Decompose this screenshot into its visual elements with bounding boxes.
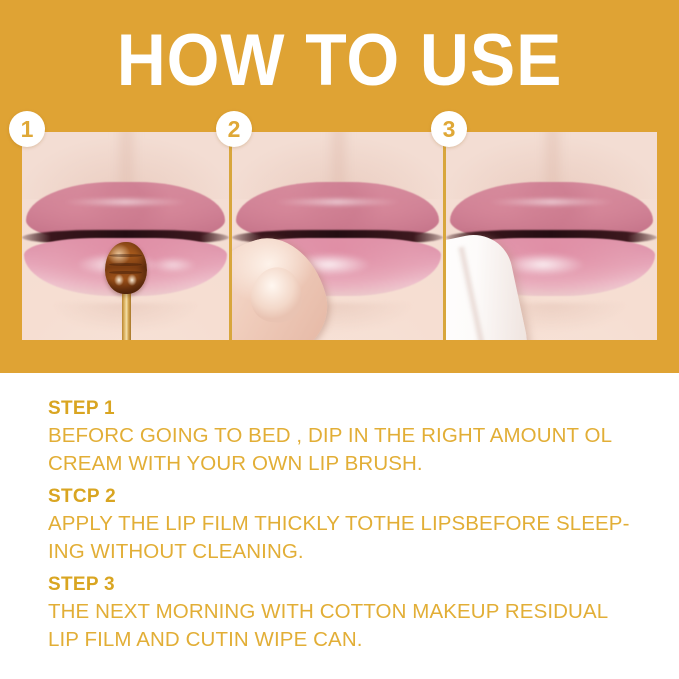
step-badge-3: 3 [431, 111, 467, 147]
upper-lip-gloss [487, 199, 617, 205]
upper-lip-gloss [62, 199, 189, 205]
lips-photo-3 [446, 132, 657, 340]
lips-photo-2 [232, 132, 443, 340]
bead-highlight-right [127, 274, 137, 285]
photo-strip [22, 132, 657, 340]
step-1-heading: STEP 1 [48, 396, 648, 422]
photo-panel-step-1 [22, 132, 229, 340]
step-2-heading: STCP 2 [48, 484, 648, 510]
page-title: HOW TO USE [24, 24, 655, 98]
step-2-body: APPLY THE LIP FILM THICKLY TOTHE LIPSBEF… [48, 510, 648, 566]
applicator-bead-icon [105, 242, 147, 294]
fingernail [249, 266, 304, 325]
upper-lip-gloss [273, 199, 403, 205]
lips-photo-1 [22, 132, 229, 340]
step-badge-2: 2 [216, 111, 252, 147]
how-to-use-infographic: HOW TO USE [0, 0, 679, 679]
photo-panel-step-2 [232, 132, 443, 340]
step-block-2: STCP 2 APPLY THE LIP FILM THICKLY TOTHE … [48, 484, 648, 566]
step-block-1: STEP 1 BEFORC GOING TO BED , DIP IN THE … [48, 396, 648, 478]
instructions-list: STEP 1 BEFORC GOING TO BED , DIP IN THE … [48, 396, 648, 660]
photo-panel-step-3 [446, 132, 657, 340]
lower-lip-gloss [501, 253, 585, 276]
cotton-pad-fold [456, 246, 488, 340]
step-badge-1: 1 [9, 111, 45, 147]
step-3-body: THE NEXT MORNING WITH COTTON MAKEUP RESI… [48, 598, 648, 654]
step-block-3: STEP 3 THE NEXT MORNING WITH COTTON MAKE… [48, 572, 648, 654]
step-3-heading: STEP 3 [48, 572, 648, 598]
step-1-body: BEFORC GOING TO BED , DIP IN THE RIGHT A… [48, 422, 648, 478]
bead-highlight-left [114, 274, 124, 285]
